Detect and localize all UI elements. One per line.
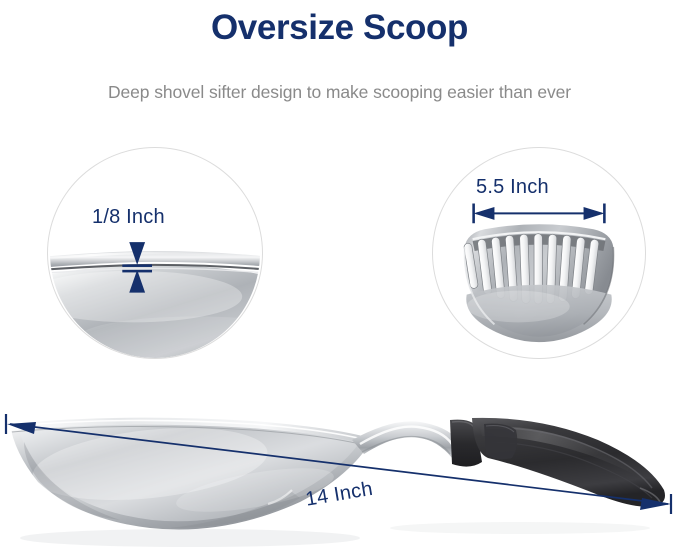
handle-grip-panel: [484, 424, 517, 460]
dimension-label-width: 5.5 Inch: [476, 176, 549, 199]
scoop-edge-cross-section-illustration: [48, 148, 262, 358]
oversize-scoop-product-svg: [0, 378, 679, 554]
bowl-ground-shadow: [20, 529, 360, 547]
width-arrowhead-left: [474, 207, 495, 220]
thickness-bar-top: [122, 264, 152, 267]
thickness-bar-bottom: [122, 270, 152, 273]
handle-ground-shadow: [390, 522, 650, 534]
page-title: Oversize Scoop: [0, 6, 679, 50]
product-illustration: [0, 378, 679, 554]
width-dimension-arrow: [474, 203, 605, 223]
infographic-canvas: Oversize Scoop Deep shovel sifter design…: [0, 0, 679, 554]
callout-thickness: 1/8 Inch: [47, 147, 263, 359]
head-belly-highlight: [467, 291, 570, 323]
width-arrowhead-right: [584, 207, 605, 220]
dimension-label-thickness: 1/8 Inch: [92, 206, 165, 229]
callout-width: 5.5 Inch: [432, 147, 646, 359]
page-subtitle: Deep shovel sifter design to make scoopi…: [0, 80, 679, 104]
